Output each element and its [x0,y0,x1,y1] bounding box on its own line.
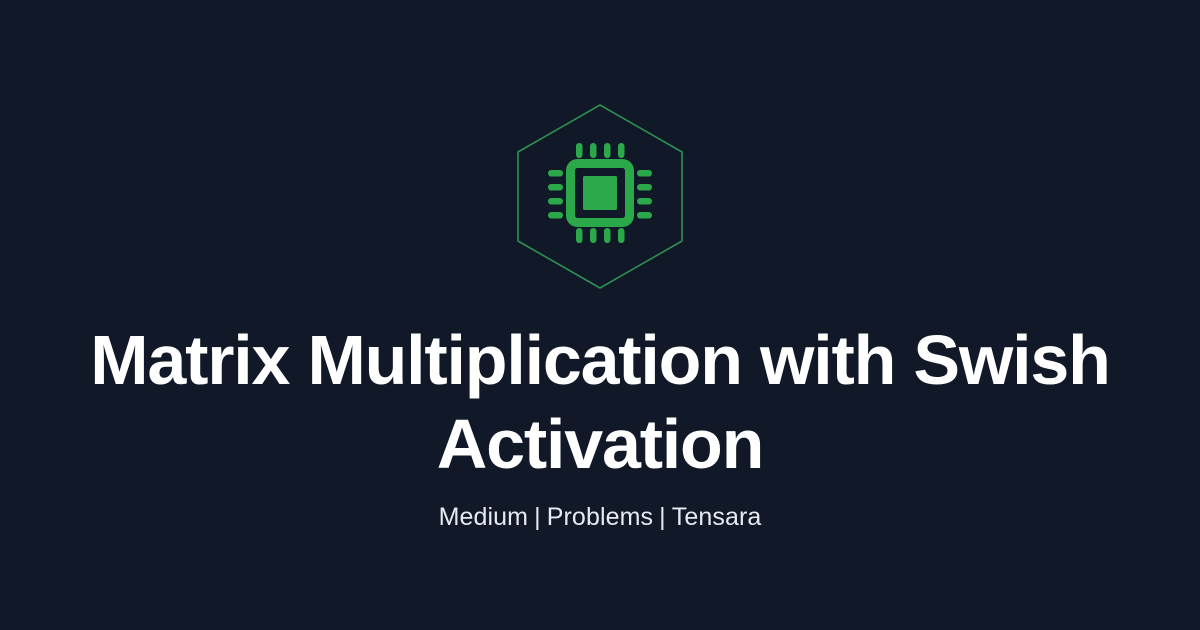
og-card: Matrix Multiplication with Swish Activat… [0,0,1200,630]
cpu-chip-icon [548,143,652,243]
section-label: Problems [547,503,653,531]
site-label: Tensara [672,503,762,531]
page-title: Matrix Multiplication with Swish Activat… [0,318,1200,486]
difficulty-label: Medium [439,503,529,531]
meta-line: Medium|Problems|Tensara [0,501,1200,533]
meta-separator-1: | [528,503,547,531]
meta-separator-2: | [653,503,672,531]
badge-hexagon-logo [510,101,690,292]
